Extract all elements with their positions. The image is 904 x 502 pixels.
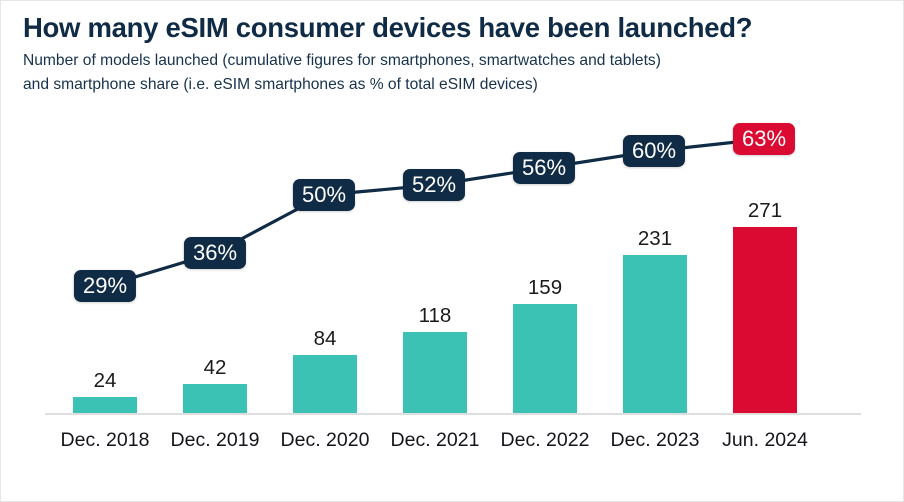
bar-jun-2024: 271	[733, 227, 797, 413]
bar-rect	[293, 355, 357, 413]
chart-canvas: How many eSIM consumer devices have been…	[0, 0, 904, 502]
bar-dec-2020: 84	[293, 355, 357, 413]
share-badge: 36%	[184, 237, 246, 269]
x-axis-label: Dec. 2021	[379, 429, 491, 452]
share-badge: 29%	[74, 270, 136, 302]
bar-dec-2022: 159	[513, 304, 577, 413]
bar-rect	[403, 332, 467, 413]
bar-dec-2018: 24	[73, 397, 137, 413]
bar-rect	[733, 227, 797, 413]
bar-value-label: 271	[715, 199, 815, 223]
bar-rect	[183, 384, 247, 413]
bar-rect	[73, 397, 137, 413]
share-badge: 63%	[733, 123, 795, 155]
bar-value-label: 42	[165, 356, 265, 380]
bar-dec-2019: 42	[183, 384, 247, 413]
share-badge: 56%	[513, 152, 575, 184]
x-axis-label: Jun. 2024	[709, 429, 821, 452]
x-axis-label: Dec. 2019	[159, 429, 271, 452]
x-axis-label: Dec. 2018	[49, 429, 161, 452]
bar-rect	[623, 255, 687, 413]
share-badge: 60%	[623, 135, 685, 167]
x-axis-label: Dec. 2023	[599, 429, 711, 452]
x-axis-label: Dec. 2020	[269, 429, 381, 452]
bar-value-label: 84	[275, 327, 375, 351]
bar-value-label: 118	[385, 304, 485, 328]
bar-rect	[513, 304, 577, 413]
bar-dec-2021: 118	[403, 332, 467, 413]
bar-value-label: 24	[55, 369, 155, 393]
bar-dec-2023: 231	[623, 255, 687, 413]
plot-area: 244284118159231271 Dec. 2018Dec. 2019Dec…	[1, 1, 904, 502]
share-badge: 52%	[403, 169, 465, 201]
x-axis-baseline	[45, 413, 861, 415]
bar-value-label: 159	[495, 276, 595, 300]
share-badge: 50%	[293, 179, 355, 211]
bar-value-label: 231	[605, 227, 705, 251]
x-axis-label: Dec. 2022	[489, 429, 601, 452]
